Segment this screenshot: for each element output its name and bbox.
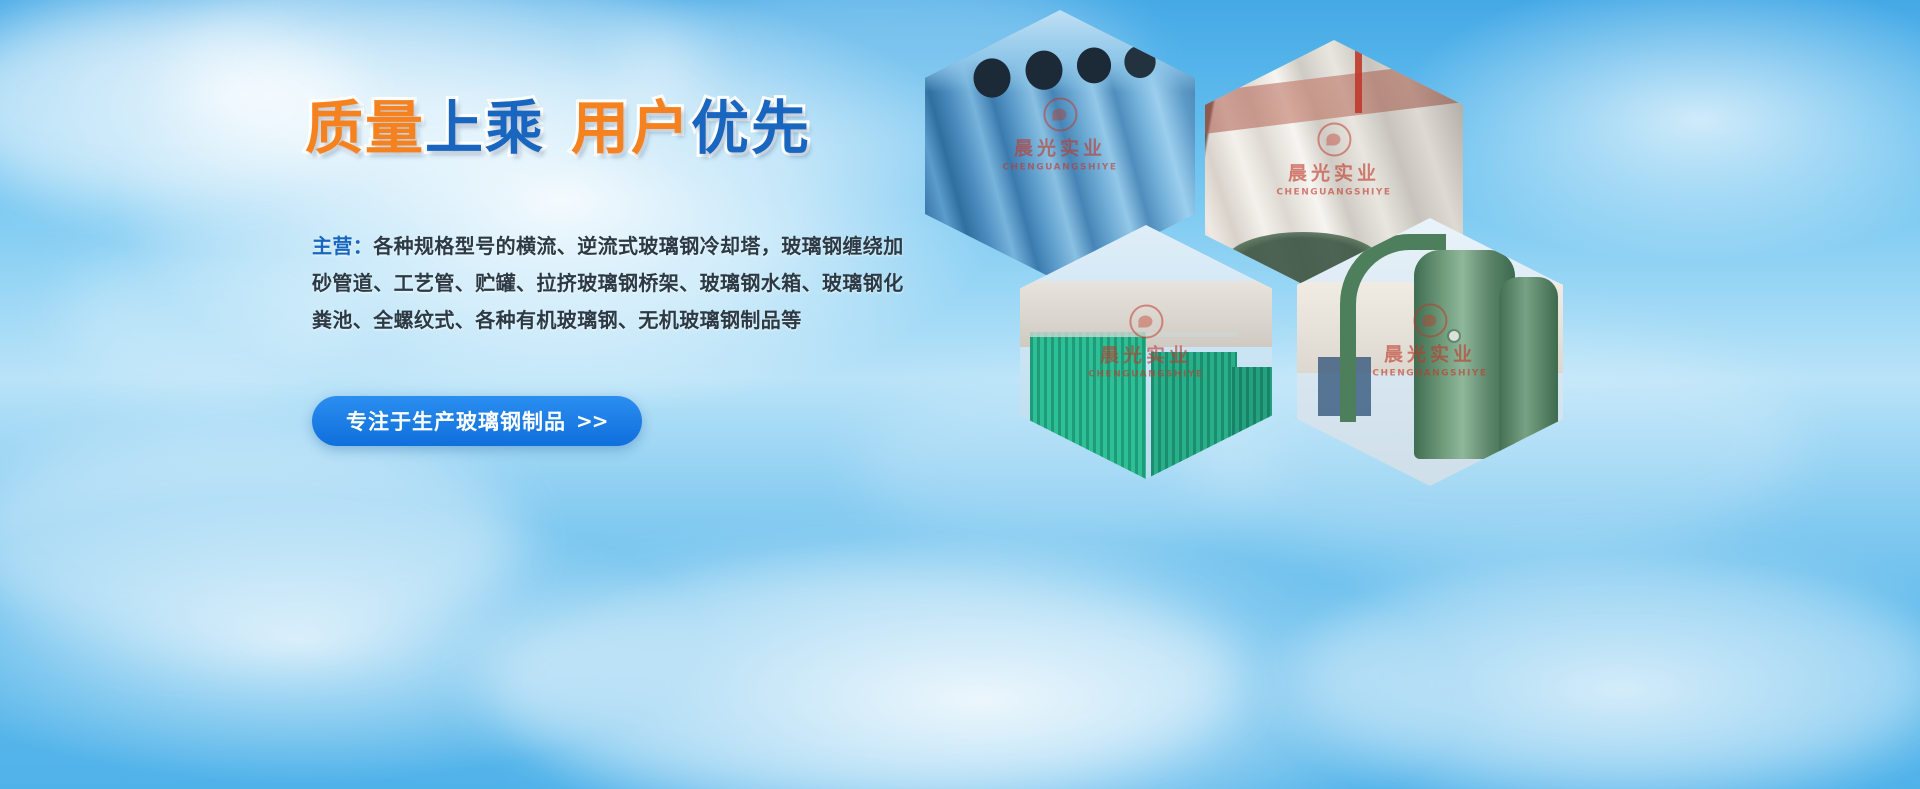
description-line-1: 各种规格型号的横流、逆流式玻璃钢冷却塔，玻璃钢缠绕加: [373, 234, 903, 258]
banner-description: 主营：各种规格型号的横流、逆流式玻璃钢冷却塔，玻璃钢缠绕加砂管道、工艺管、贮罐、…: [312, 228, 912, 339]
photo-pipe-openings: [968, 45, 1168, 105]
photo-railing: [1030, 332, 1237, 337]
headline-segment-blue-1: 上乘: [425, 94, 545, 162]
photo-cooling-tower-2: [1151, 352, 1237, 479]
double-chevron-right-icon: >>: [576, 409, 608, 433]
cta-button-label: 专注于生产玻璃钢制品: [346, 406, 566, 436]
headline-segment-orange-1: 质量: [305, 94, 425, 162]
photo-color-band: [1205, 61, 1463, 134]
headline-segment-blue-2: 优先: [691, 94, 811, 162]
banner-headline: 质量上乘用户优先: [305, 96, 811, 160]
promo-banner: 质量上乘用户优先 主营：各种规格型号的横流、逆流式玻璃钢冷却塔，玻璃钢缠绕加砂管…: [0, 0, 1920, 789]
product-photo-collage: 晨光实业 CHENGUANGSHIYE 晨光实业 CHENGUANGSHIYE: [905, 0, 1920, 789]
banner-text-block: 质量上乘用户优先 主营：各种规格型号的横流、逆流式玻璃钢冷却塔，玻璃钢缠绕加砂管…: [0, 0, 960, 789]
photo-tower-body-secondary: [1499, 277, 1558, 454]
photo-cooling-tower-3: [1232, 367, 1272, 479]
description-line-2: 砂管道、工艺管、贮罐、拉挤玻璃钢桥架、玻璃钢水箱、玻璃钢化: [312, 271, 904, 295]
headline-segment-orange-2: 用户: [571, 94, 691, 162]
photo-tower-port: [1449, 331, 1459, 341]
description-line-3: 粪池、全螺纹式、各种有机玻璃钢、无机玻璃钢制品等: [312, 308, 802, 332]
cta-button[interactable]: 专注于生产玻璃钢制品 >>: [312, 396, 642, 446]
photo-red-post: [1355, 45, 1362, 113]
photo-cooling-tower-1: [1030, 332, 1146, 479]
description-lead: 主营：: [312, 234, 373, 258]
